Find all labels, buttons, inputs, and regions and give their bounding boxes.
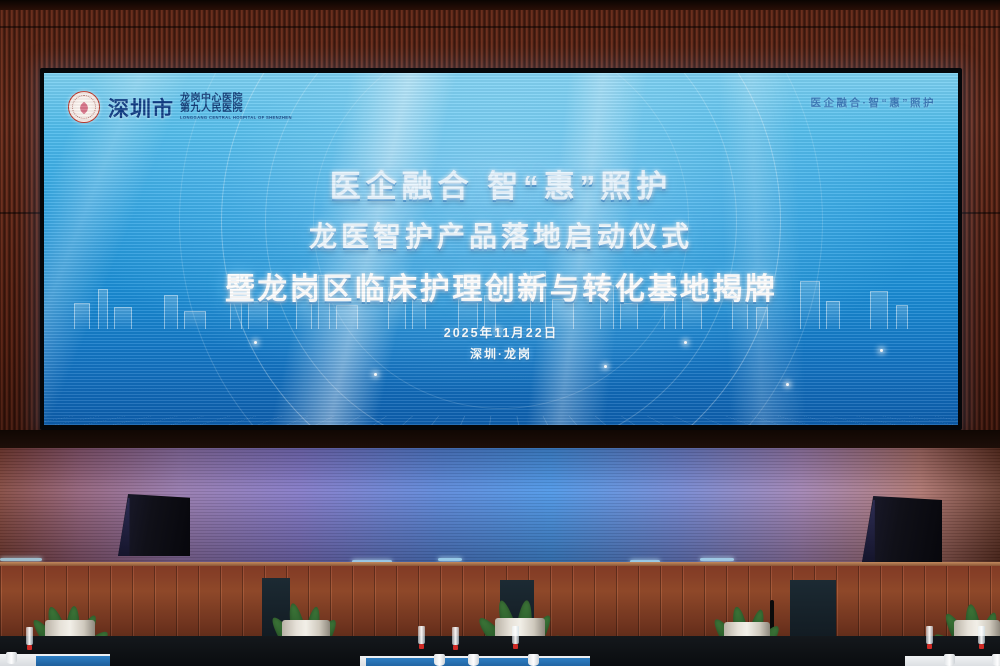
stage-monitor-left [118, 494, 190, 556]
led-screen: 深圳市 龙岗中心医院 第九人民医院 LONGGANG CENTRAL HOSPI… [44, 73, 958, 425]
corner-slogan: 医企融合·智“惠”照护 [811, 95, 937, 110]
paper-cup [944, 654, 955, 666]
paper-cup [434, 654, 445, 666]
paper-cup [528, 654, 539, 666]
wall-seam [0, 26, 1000, 28]
screen-glow-dot [374, 373, 377, 376]
hospital-logo: 深圳市 龙岗中心医院 第九人民医院 LONGGANG CENTRAL HOSPI… [68, 91, 292, 123]
event-title-block: 医企融合 智“惠”照护 龙医智护产品落地启动仪式 暨龙岗区临床护理创新与转化基地… [44, 161, 958, 362]
wall-seam [0, 212, 40, 214]
screen-glow-dot [604, 365, 607, 368]
conference-hall-photo: 深圳市 龙岗中心医院 第九人民医院 LONGGANG CENTRAL HOSPI… [0, 0, 1000, 666]
logo-city-name: 深圳市 [108, 99, 174, 120]
wall-seam [962, 212, 1000, 214]
title-line-3: 暨龙岗区临床护理创新与转化基地揭牌 [44, 264, 958, 308]
title-line-2: 龙医智护产品落地启动仪式 [44, 215, 958, 255]
paper-cup [6, 652, 17, 664]
hospital-seal-icon [68, 91, 100, 123]
stage-monitor-right [862, 496, 942, 562]
front-table-runner [36, 656, 110, 666]
floor-reflection [700, 558, 734, 561]
event-date: 2025年11月22日 [44, 322, 958, 341]
screen-glow-dot [786, 383, 789, 386]
logo-hospital-line2: 第九人民医院 [180, 104, 292, 115]
event-location: 深圳·龙岗 [44, 345, 958, 362]
ceiling-shadow [0, 0, 1000, 10]
led-screen-bezel: 深圳市 龙岗中心医院 第九人民医院 LONGGANG CENTRAL HOSPI… [40, 68, 962, 430]
paper-cup [992, 654, 1000, 666]
title-line-1: 医企融合 智“惠”照护 [44, 161, 958, 206]
logo-english-name: LONGGANG CENTRAL HOSPITAL OF SHENZHEN [180, 116, 292, 120]
paper-cup [468, 654, 479, 666]
